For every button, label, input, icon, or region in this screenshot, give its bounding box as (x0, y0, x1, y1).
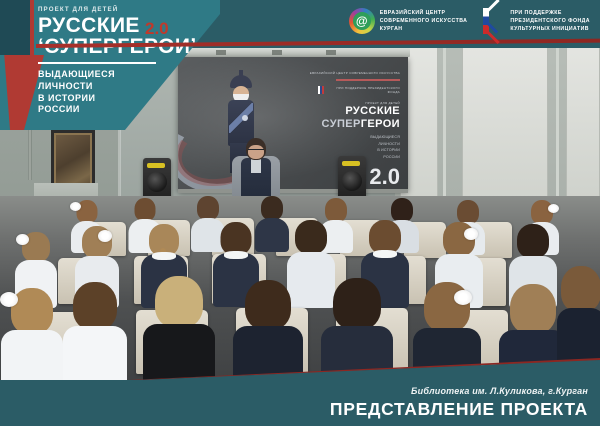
logo-eurasian-line3: КУРГАН (380, 25, 468, 33)
slide-title-line2: СУПЕРГЕРОИ (290, 118, 400, 131)
at-sign-circle-icon: @ (349, 8, 375, 34)
projection-screen-bottom-bar (178, 189, 408, 193)
logo-eurasian-center: @ ЕВРАЗИЙСКИЙ ЦЕНТР СОВРЕМЕННОГО ИСКУССТ… (349, 8, 468, 34)
poster-subtitle-line4: РОССИИ (38, 104, 218, 116)
student-head (261, 196, 283, 220)
presenter-face (248, 145, 264, 159)
speaker-left-cone (147, 172, 167, 192)
hair-bow-icon (454, 290, 472, 305)
presenter-glasses-icon (248, 149, 264, 152)
slide-tiny-top: ЕВРАЗИЙСКИЙ ЦЕНТР СОВРЕМЕННОГО ИСКУССТВА (290, 71, 400, 76)
hero-sash (229, 103, 253, 133)
venue-label: Библиотека им. Л.Куликова, г.Курган (330, 386, 588, 396)
student-head (135, 198, 156, 221)
student-collar (224, 251, 248, 259)
logo-eurasian-line2: СОВРЕМЕННОГО ИСКУССТВА (380, 17, 468, 25)
student-collar (373, 250, 397, 258)
bottom-caption-block: Библиотека им. Л.Куликова, г.Курган ПРЕД… (330, 386, 588, 420)
letter-k-flag-icon (483, 8, 505, 34)
poster-image: ЕВРАЗИЙСКИЙ ЦЕНТР СОВРЕМЕННОГО ИСКУССТВА… (0, 0, 600, 426)
poster-title-line1: РУССКИЕ (38, 15, 218, 36)
student-head (325, 198, 347, 222)
slide-title-super: СУПЕР (322, 118, 361, 130)
poster-title-divider (38, 62, 156, 64)
poster-subtitle-line3: В ИСТОРИИ (38, 93, 218, 105)
student-head (11, 288, 53, 334)
slide-title-geroi: ГЕРОИ (361, 118, 400, 130)
hair-bow-icon (98, 230, 112, 242)
sponsor-logos: @ ЕВРАЗИЙСКИЙ ЦЕНТР СОВРЕМЕННОГО ИСКУССТ… (349, 8, 590, 34)
student-head (561, 266, 600, 312)
logo-presidential-fund: ПРИ ПОДДЕРЖКЕ ПРЕЗИДЕНТСКОГО ФОНДА КУЛЬТ… (483, 8, 590, 34)
logo-eurasian-text: ЕВРАЗИЙСКИЙ ЦЕНТР СОВРЕМЕННОГО ИСКУССТВА… (380, 9, 468, 33)
logo-eurasian-line1: ЕВРАЗИЙСКИЙ ЦЕНТР (380, 9, 468, 17)
poster-subtitle-line2: ЛИЧНОСТИ (38, 81, 218, 93)
logo-fund-line3: КУЛЬТУРНЫХ ИНИЦИАТИВ (510, 25, 590, 33)
logo-fund-line1: ПРИ ПОДДЕРЖКЕ (510, 9, 590, 17)
student-head (73, 282, 117, 330)
student-head (517, 224, 549, 258)
slide-tiny-support: ПРИ ПОДДЕРЖКЕ ПРЕЗИДЕНТСКОГО ФОНДА (326, 86, 400, 95)
window-blind-2 (462, 22, 548, 208)
hair-bow-icon (16, 234, 29, 245)
slide-support-row: ПРИ ПОДДЕРЖКЕ ПРЕЗИДЕНТСКОГО ФОНДА (290, 86, 400, 95)
slide-divider (336, 79, 400, 81)
poster-kicker: ПРОЕКТ ДЛЯ ДЕТЕЙ (38, 6, 218, 13)
hero-medal (242, 115, 248, 121)
hair-bow-icon (548, 204, 559, 213)
slide-letter-k-icon (318, 86, 324, 94)
hair-bow-icon (70, 202, 81, 211)
student-head (295, 220, 327, 254)
student-head (510, 284, 556, 334)
student-body (255, 218, 289, 252)
student-head (197, 196, 219, 220)
student-head (391, 198, 413, 222)
student-collar (152, 252, 176, 260)
slide-title-line1: РУССКИЕ (290, 105, 400, 118)
student-head (155, 276, 203, 328)
poster-title-block: ПРОЕКТ ДЛЯ ДЕТЕЙ РУССКИЕ 2.0 ʻСУПЕРГЕРОИ… (38, 6, 218, 116)
student-head (457, 200, 479, 224)
student-head (333, 278, 381, 330)
poster-version: 2.0 (145, 19, 169, 39)
window-blind-3 (566, 22, 600, 198)
poster-subtitle-line1: ВЫДАЮЩИЕСЯ (38, 69, 218, 81)
hair-bow-icon (464, 228, 478, 240)
event-caption: ПРЕДСТАВЛЕНИЕ ПРОЕКТА (330, 399, 588, 420)
logo-fund-text: ПРИ ПОДДЕРЖКЕ ПРЕЗИДЕНТСКОГО ФОНДА КУЛЬТ… (510, 9, 590, 33)
student-head (245, 280, 291, 330)
logo-fund-line2: ПРЕЗИДЕНТСКОГО ФОНДА (510, 17, 590, 25)
student-head (369, 220, 401, 254)
at-sign-glyph: @ (353, 12, 371, 30)
speaker-right-tweeter (342, 161, 360, 166)
speaker-left-tweeter (147, 163, 165, 168)
hair-bow-icon (0, 292, 18, 307)
speaker-right-cone (342, 171, 362, 191)
